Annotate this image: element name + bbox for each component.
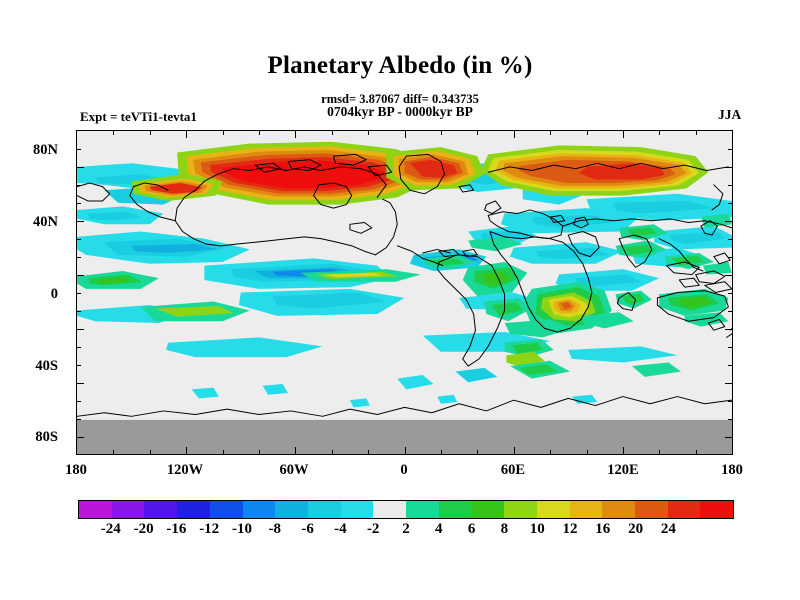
x-axis-label-120w: 120W	[150, 462, 220, 479]
axis-tick	[696, 131, 697, 135]
x-axis-label-180e: 180	[697, 462, 767, 479]
y-axis-label-40n: 40N	[0, 214, 58, 231]
axis-tick	[728, 203, 732, 204]
axis-tick	[368, 450, 369, 454]
axis-tick	[514, 131, 515, 138]
axis-tick	[623, 131, 624, 138]
axis-tick	[77, 275, 84, 276]
colorbar-cell	[406, 501, 439, 518]
colorbar-cell	[243, 501, 276, 518]
colorbar-cell	[308, 501, 341, 518]
axis-tick	[368, 131, 369, 135]
colorbar-cell	[373, 501, 406, 518]
axis-tick	[77, 221, 84, 222]
colorbar-cell	[177, 501, 210, 518]
axis-tick	[728, 419, 732, 420]
y-axis-label-40s: 40S	[0, 358, 58, 375]
x-axis-label-60w: 60W	[259, 462, 329, 479]
axis-tick	[728, 365, 732, 366]
x-axis-label-60e: 60E	[478, 462, 548, 479]
colorbar-cell	[341, 501, 374, 518]
colorbar-cell	[275, 501, 308, 518]
axis-tick	[77, 419, 81, 420]
axis-tick	[77, 365, 81, 366]
colorbar-cell	[210, 501, 243, 518]
colorbar-cell	[537, 501, 570, 518]
figure-canvas: Planetary Albedo (in %) rmsd= 3.87067 di…	[0, 0, 800, 600]
axis-tick	[77, 347, 81, 348]
x-axis-label-0: 0	[369, 462, 439, 479]
axis-tick	[259, 450, 260, 454]
axis-tick	[696, 450, 697, 454]
x-axis-label-120e: 120E	[588, 462, 658, 479]
axis-tick	[725, 221, 732, 222]
axis-tick	[77, 437, 84, 438]
colorbar-cell	[112, 501, 145, 518]
axis-tick	[223, 131, 224, 135]
x-axis-label-180w: 180	[41, 462, 111, 479]
axis-tick	[295, 131, 296, 138]
axis-tick	[728, 311, 732, 312]
albedo-anomaly-map	[77, 131, 732, 454]
axis-tick	[259, 131, 260, 135]
axis-tick	[77, 257, 81, 258]
axis-tick	[295, 447, 296, 454]
axis-tick	[728, 401, 732, 402]
axis-tick	[405, 447, 406, 454]
axis-tick	[477, 131, 478, 135]
axis-tick	[728, 257, 732, 258]
axis-tick	[623, 447, 624, 454]
axis-tick	[659, 131, 660, 135]
axis-tick	[514, 447, 515, 454]
axis-tick	[332, 131, 333, 135]
y-axis-label-0: 0	[0, 286, 58, 303]
axis-tick	[186, 131, 187, 138]
y-axis-label-80s: 80S	[0, 429, 58, 446]
colorbar-cell	[471, 501, 504, 518]
axis-tick	[77, 167, 84, 168]
axis-tick	[77, 329, 84, 330]
axis-tick	[113, 131, 114, 135]
axis-tick	[77, 185, 81, 186]
axis-tick	[725, 329, 732, 330]
axis-tick	[77, 383, 84, 384]
axis-tick	[77, 149, 81, 150]
map-plot-area	[76, 130, 733, 455]
axis-tick	[728, 347, 732, 348]
axis-tick	[77, 293, 81, 294]
axis-tick	[150, 450, 151, 454]
axis-tick	[113, 450, 114, 454]
colorbar-cell	[570, 501, 603, 518]
y-axis-label-80n: 80N	[0, 142, 58, 159]
axis-tick	[405, 131, 406, 138]
page-title: Planetary Albedo (in %)	[0, 52, 800, 80]
colorbar-tick-label: 24	[643, 521, 693, 538]
colorbar-cell	[668, 501, 701, 518]
axis-tick	[728, 185, 732, 186]
colorbar	[78, 500, 734, 519]
axis-tick	[728, 293, 732, 294]
colorbar-cell	[439, 501, 472, 518]
axis-tick	[150, 131, 151, 135]
axis-tick	[725, 275, 732, 276]
axis-tick	[725, 437, 732, 438]
axis-tick	[477, 450, 478, 454]
colorbar-cell	[504, 501, 537, 518]
axis-tick	[550, 131, 551, 135]
axis-tick	[77, 311, 81, 312]
axis-tick	[587, 450, 588, 454]
axis-tick	[728, 239, 732, 240]
colorbar-cell	[700, 501, 733, 518]
axis-tick	[725, 383, 732, 384]
axis-tick	[77, 401, 81, 402]
colorbar-cell	[635, 501, 668, 518]
axis-tick	[728, 149, 732, 150]
axis-tick	[332, 450, 333, 454]
axis-tick	[441, 450, 442, 454]
axis-tick	[550, 450, 551, 454]
axis-tick	[77, 239, 81, 240]
axis-tick	[587, 131, 588, 135]
season-label: JJA	[718, 107, 741, 123]
axis-tick	[223, 450, 224, 454]
colorbar-cell	[79, 501, 112, 518]
colorbar-cell	[144, 501, 177, 518]
experiment-label: Expt = teVTi1-tevta1	[80, 109, 197, 125]
axis-tick	[77, 203, 81, 204]
colorbar-cell	[602, 501, 635, 518]
axis-tick	[186, 447, 187, 454]
axis-tick	[725, 167, 732, 168]
axis-tick	[441, 131, 442, 135]
axis-tick	[659, 450, 660, 454]
